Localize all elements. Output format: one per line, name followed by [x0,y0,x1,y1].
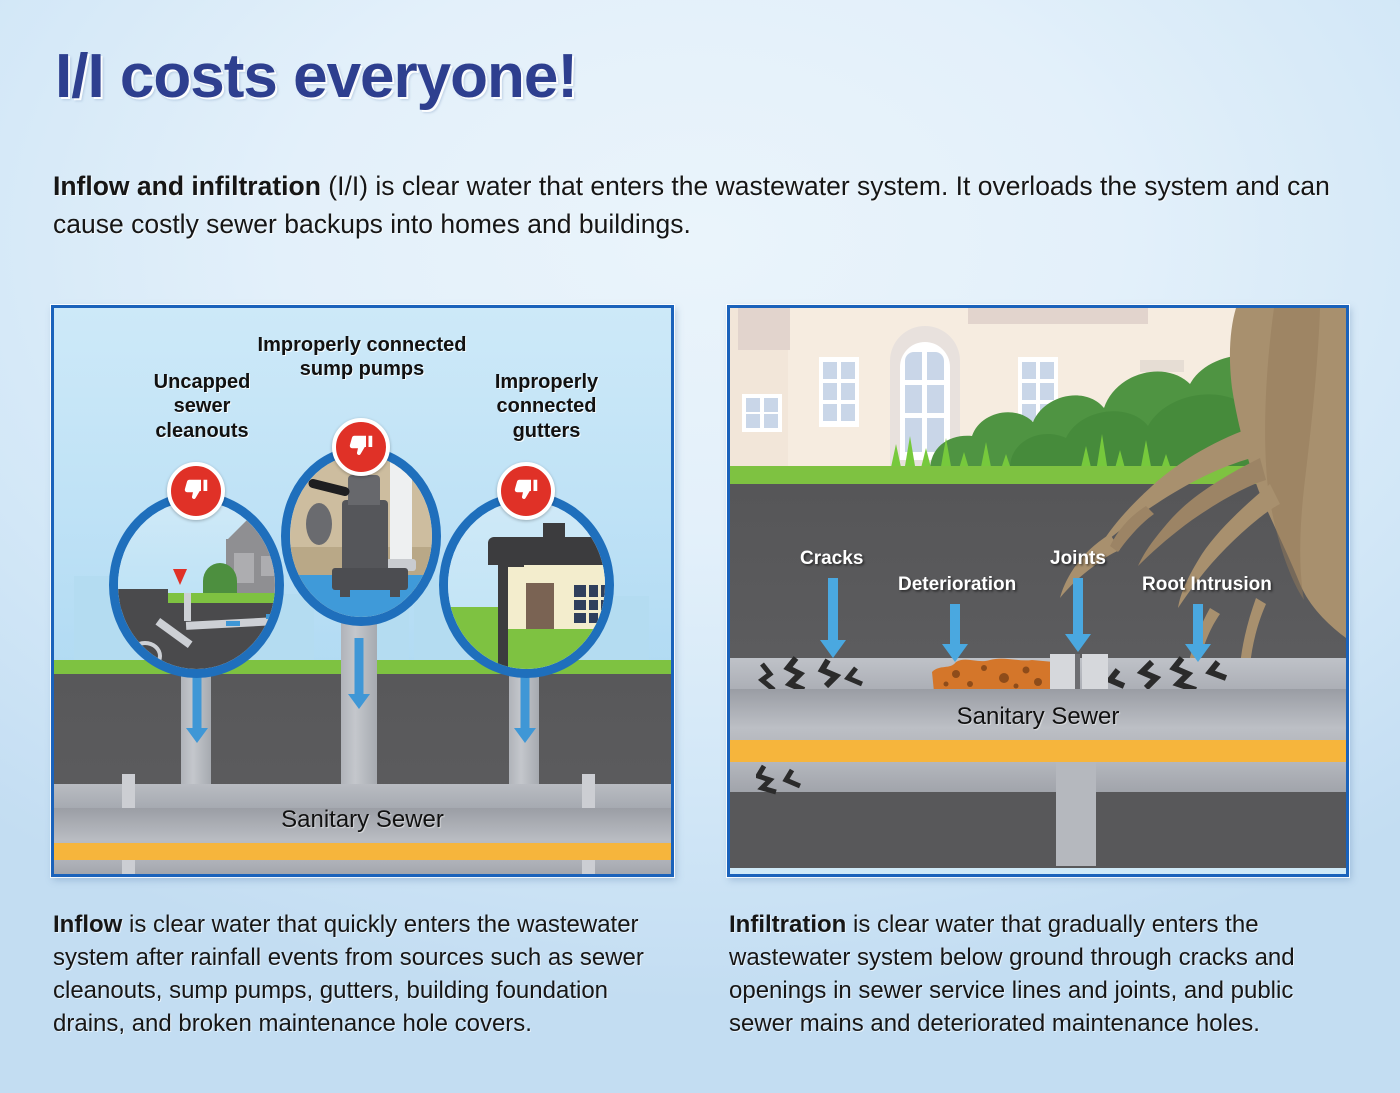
sanitary-sewer-label-right: Sanitary Sewer [730,703,1346,731]
thumbs-down-icon [497,462,555,520]
sewage-flow-right [730,740,1346,762]
cleanout-house-door [234,553,254,583]
label-gutters: Improperlyconnectedgutters [454,370,639,443]
caption-infiltration: Infiltration is clear water that gradual… [729,908,1349,1040]
window-pane [764,398,778,412]
thumbs-down-glyph [346,432,376,462]
pipe-joint [582,860,595,877]
caption-inflow-bold: Inflow [53,911,122,938]
sump-discharge-pipe [390,455,412,567]
gutter-chimney [543,523,565,543]
panel-infiltration: Sanitary Sewer Cracks Deterioration Join… [727,305,1349,877]
gutter-window-mullion [574,597,612,600]
thumbs-down-icon [167,462,225,520]
label-deterioration: Deterioration [898,574,1016,596]
arrow-cracks [820,578,846,658]
pipe-joint [122,860,135,877]
arrow-root-intrusion [1185,604,1211,662]
arrow-joints [1065,578,1091,652]
crack-marks-lower [756,760,876,796]
cleanout-water-blip [226,621,240,626]
crack-marks-root [1108,654,1258,694]
pipe-joint [582,774,595,808]
sump-pump-base [332,568,408,590]
sewage-flow [54,843,671,860]
cleanout-house-roof [226,517,274,541]
infiltration-scene: Sanitary Sewer Cracks Deterioration Join… [730,308,1346,874]
label-cracks: Cracks [800,548,863,570]
gutter-downspout [498,557,508,678]
gutter-downspout-elbow [498,557,524,567]
window-pane [746,398,760,412]
flow-arrow-sump [348,638,370,712]
sump-pump-body [342,500,388,572]
window-pane [841,383,855,400]
sump-float-ball [306,503,332,545]
cleanout-house-window [261,556,283,576]
window-pane [746,414,760,428]
lower-pipe-stub [1056,762,1096,866]
intro-paragraph: Inflow and infiltration (I/I) is clear w… [53,168,1343,243]
sewer-pipe-top [54,784,671,808]
flow-arrow-gutters [514,670,536,744]
window-pane [764,414,778,428]
window-pane [841,362,855,379]
caption-inflow: Inflow is clear water that quickly enter… [53,908,675,1040]
cleanout-arrow-marker [173,569,187,585]
gutter-window-mullion [574,610,612,613]
sump-pump-foot [340,588,350,597]
arrow-deterioration [942,604,968,662]
cleanout-ground-step [118,589,168,609]
window-pane [823,362,837,379]
window-pane [841,404,855,421]
inflow-scene: Sanitary Sewer Uncappedsewercleanouts [54,308,671,874]
window-frame [742,394,782,432]
gutter-door [526,583,554,629]
thumbs-down-glyph [181,476,211,506]
gutter-window-mullion [586,585,589,623]
window-frame [819,357,859,427]
flow-arrow-cleanouts [186,670,208,744]
gutter-window-mullion [598,585,601,623]
caption-infiltration-bold: Infiltration [729,911,846,938]
intro-lead-bold: Inflow and infiltration [53,171,321,201]
label-root-intrusion: Root Intrusion [1142,574,1272,596]
sewer-pipe-bottom [54,860,671,877]
label-joints: Joints [1050,548,1106,570]
window-pane [823,404,837,421]
sanitary-sewer-label-left: Sanitary Sewer [54,806,671,834]
caption-inflow-rest: is clear water that quickly enters the w… [53,911,644,1037]
gutter-window [574,585,612,623]
building-cornice [738,308,790,350]
sump-pump-top [348,475,380,505]
crack-marks [756,656,896,692]
page-title: I/I costs everyone! [55,46,577,108]
cleanout-riser [184,593,191,621]
panel-inflow: Sanitary Sewer Uncappedsewercleanouts [51,305,674,877]
thumbs-down-glyph [511,476,541,506]
window-pane [823,383,837,400]
pipe-joint [122,774,135,808]
thumbs-down-icon [332,418,390,476]
cleanout-water-blip [266,614,280,619]
sump-pump-foot [390,588,400,597]
soil-below-pipe-right [730,792,1346,868]
